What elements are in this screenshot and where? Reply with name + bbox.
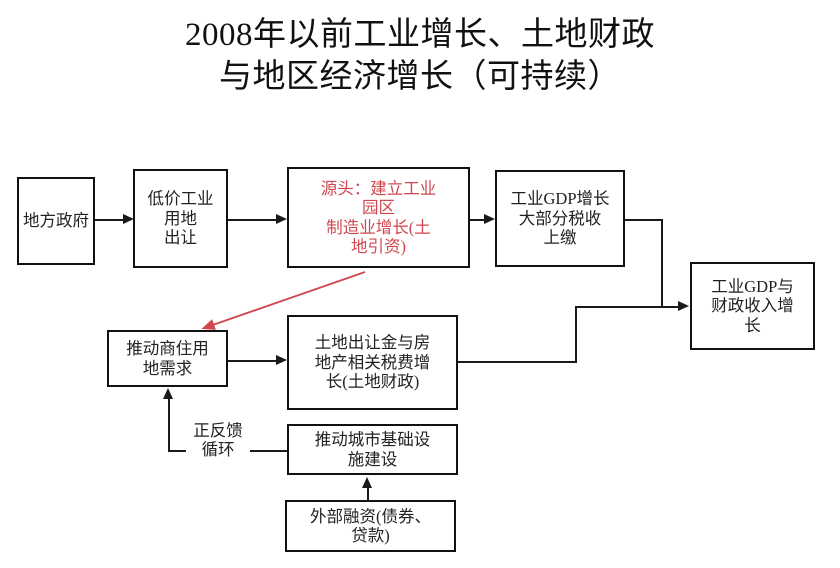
node-low-price-industrial-land-label: 低价工业 用地 出让: [138, 189, 223, 247]
node-local-government-label: 地方政府: [22, 211, 90, 230]
node-land-finance-label: 土地出让金与房 地产相关税费增 长(土地财政): [292, 333, 453, 391]
page-title: 2008年以前工业增长、土地财政 与地区经济增长（可持续）: [0, 14, 840, 98]
node-industrial-gdp-tax-label: 工业GDP增长 大部分税收 上缴: [500, 189, 620, 247]
node-industrial-park-source[interactable]: 源头：建立工业 园区 制造业增长(土 地引资): [287, 167, 470, 268]
node-land-finance[interactable]: 土地出让金与房 地产相关税费增 长(土地财政): [287, 315, 458, 410]
diagram-canvas: 2008年以前工业增长、土地财政 与地区经济增长（可持续） 地方政府 低价工业 …: [0, 0, 840, 568]
edge-junction-to-gdpfiscal: [575, 306, 681, 308]
edge-infra-up-to-demand: [168, 398, 170, 451]
edge-gdptax-down: [661, 219, 663, 307]
arrowhead-financing-to-infra: [362, 477, 372, 488]
edge-lowprice-to-source: [228, 219, 278, 221]
arrowhead-lowprice-to-source: [276, 214, 287, 224]
edge-localgov-to-lowprice: [95, 219, 125, 221]
node-commercial-residential-demand-label: 推动商住用 地需求: [112, 339, 223, 378]
arrowhead-demand-to-landfinance: [276, 355, 287, 365]
arrowhead-source-to-gdptax: [484, 214, 495, 224]
arrowhead-to-gdpfiscal: [678, 301, 689, 311]
node-industrial-gdp-tax[interactable]: 工业GDP增长 大部分税收 上缴: [495, 170, 625, 267]
edge-landfinance-up: [575, 306, 577, 363]
node-industrial-gdp-fiscal[interactable]: 工业GDP与 财政收入增 长: [690, 262, 815, 350]
node-local-government[interactable]: 地方政府: [17, 177, 95, 265]
node-low-price-industrial-land[interactable]: 低价工业 用地 出让: [133, 169, 228, 268]
node-external-financing[interactable]: 外部融资(债券、 贷款): [285, 500, 456, 552]
node-external-financing-label: 外部融资(债券、 贷款): [290, 507, 451, 546]
arrowhead-infra-to-demand: [163, 388, 173, 399]
node-commercial-residential-demand[interactable]: 推动商住用 地需求: [107, 330, 228, 387]
edge-demand-to-landfinance: [228, 360, 278, 362]
node-urban-infrastructure-label: 推动城市基础设 施建设: [292, 430, 453, 469]
node-urban-infrastructure[interactable]: 推动城市基础设 施建设: [287, 424, 458, 475]
edge-gdptax-right: [625, 219, 663, 221]
node-industrial-park-source-label: 源头：建立工业 园区 制造业增长(土 地引资): [292, 179, 465, 257]
label-positive-feedback-loop: 正反馈 循环: [186, 422, 250, 460]
edge-landfinance-right: [458, 361, 577, 363]
node-industrial-gdp-fiscal-label: 工业GDP与 财政收入增 长: [695, 277, 810, 335]
